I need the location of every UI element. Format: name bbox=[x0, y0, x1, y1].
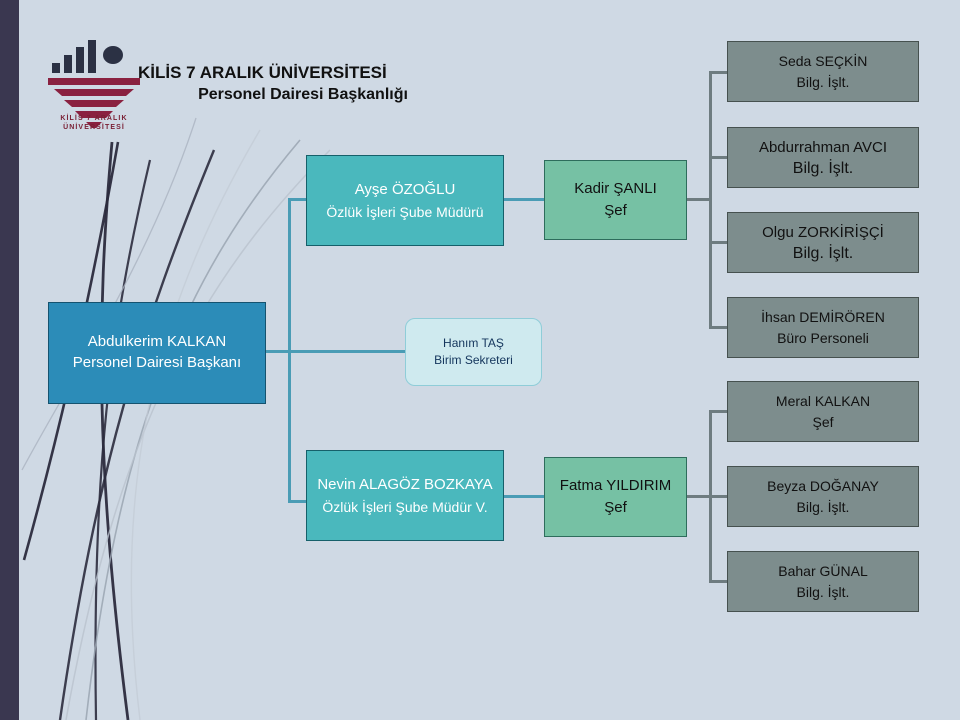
node-title: Bilg. İşlt. bbox=[797, 582, 850, 603]
connector-kadir-vertical bbox=[709, 71, 712, 326]
logo-caption-line1: KİLİS 7 ARALIK bbox=[60, 115, 127, 122]
org-title-line1: KİLİS 7 ARALIK ÜNİVERSİTESİ bbox=[138, 62, 468, 84]
node-staff-olgu-zorkirisci[interactable]: Olgu ZORKİRİŞÇİ Bilg. İşlt. bbox=[727, 212, 919, 273]
node-name: Fatma YILDIRIM bbox=[560, 475, 671, 497]
node-staff-beyza-doganay[interactable]: Beyza DOĞANAY Bilg. İşlt. bbox=[727, 466, 919, 527]
node-title: Özlük İşleri Şube Müdür V. bbox=[322, 498, 487, 516]
node-name: Bahar GÜNAL bbox=[778, 561, 867, 582]
node-root-director[interactable]: Abdulkerim KALKAN Personel Dairesi Başka… bbox=[48, 302, 266, 404]
node-staff-abdurrahman-avci[interactable]: Abdurrahman AVCI Bilg. İşlt. bbox=[727, 127, 919, 188]
connector-ayse-to-kadir bbox=[504, 198, 544, 201]
connector-to-seda bbox=[709, 71, 727, 74]
node-title: Personel Dairesi Başkanı bbox=[73, 352, 241, 374]
node-name: Hanım TAŞ bbox=[443, 335, 504, 352]
node-name: Seda SEÇKİN bbox=[779, 51, 868, 72]
node-name: Abdurrahman AVCI bbox=[759, 137, 887, 158]
node-manager-ayse-ozoglu[interactable]: Ayşe ÖZOĞLU Özlük İşleri Şube Müdürü bbox=[306, 155, 504, 246]
node-name: Ayşe ÖZOĞLU bbox=[355, 180, 456, 199]
connector-to-ayse bbox=[288, 198, 308, 201]
node-title: Birim Sekreteri bbox=[434, 352, 513, 369]
node-chief-kadir-sanli[interactable]: Kadir ŞANLI Şef bbox=[544, 160, 687, 240]
org-title-line2: Personel Dairesi Başkanlığı bbox=[138, 84, 468, 106]
node-title: Bilg. İşlt. bbox=[797, 497, 850, 518]
node-staff-ihsan-demiroren[interactable]: İhsan DEMİRÖREN Büro Personeli bbox=[727, 297, 919, 358]
node-staff-bahar-gunal[interactable]: Bahar GÜNAL Bilg. İşlt. bbox=[727, 551, 919, 612]
node-staff-seda-seckin[interactable]: Seda SEÇKİN Bilg. İşlt. bbox=[727, 41, 919, 102]
node-name: Olgu ZORKİRİŞÇİ bbox=[762, 222, 884, 243]
page-title: KİLİS 7 ARALIK ÜNİVERSİTESİ Personel Dai… bbox=[138, 62, 468, 106]
connector-to-beyza bbox=[709, 495, 727, 498]
node-title: Şef bbox=[604, 200, 627, 222]
node-chief-fatma-yildirim[interactable]: Fatma YILDIRIM Şef bbox=[544, 457, 687, 537]
node-title: Şef bbox=[604, 497, 627, 519]
connector-to-abdurrahman bbox=[709, 156, 727, 159]
left-accent-band bbox=[0, 0, 19, 720]
node-name: Beyza DOĞANAY bbox=[767, 476, 879, 497]
node-name: Abdulkerim KALKAN bbox=[88, 332, 226, 352]
node-title: Özlük İşleri Şube Müdürü bbox=[326, 203, 483, 221]
connector-nevin-to-fatma bbox=[504, 495, 544, 498]
node-name: Meral KALKAN bbox=[776, 391, 870, 412]
connector-to-secretary bbox=[288, 350, 406, 353]
node-title: Bilg. İşlt. bbox=[797, 72, 850, 93]
node-title: Büro Personeli bbox=[777, 328, 869, 349]
connector-to-meral bbox=[709, 410, 727, 413]
org-chart-slide: KİLİS 7 ARALIK ÜNİVERSİTESİ KİLİS 7 ARAL… bbox=[0, 0, 960, 720]
node-name: Kadir ŞANLI bbox=[574, 178, 657, 200]
logo-caption-line2: ÜNİVERSİTESİ bbox=[63, 124, 125, 131]
connector-to-ihsan bbox=[709, 326, 727, 329]
logo-caption: KİLİS 7 ARALIK ÜNİVERSİTESİ bbox=[44, 114, 144, 132]
node-title: Bilg. İşlt. bbox=[793, 158, 853, 179]
connector-to-olgu bbox=[709, 241, 727, 244]
connector-to-bahar bbox=[709, 580, 727, 583]
node-name: Nevin ALAGÖZ BOZKAYA bbox=[317, 475, 492, 494]
node-title: Şef bbox=[812, 412, 833, 433]
node-title: Bilg. İşlt. bbox=[793, 243, 853, 264]
node-unit-secretary[interactable]: Hanım TAŞ Birim Sekreteri bbox=[405, 318, 542, 386]
connector-to-nevin bbox=[288, 500, 308, 503]
node-name: İhsan DEMİRÖREN bbox=[761, 307, 885, 328]
node-staff-meral-kalkan[interactable]: Meral KALKAN Şef bbox=[727, 381, 919, 442]
node-manager-nevin-alagoz-bozkaya[interactable]: Nevin ALAGÖZ BOZKAYA Özlük İşleri Şube M… bbox=[306, 450, 504, 541]
